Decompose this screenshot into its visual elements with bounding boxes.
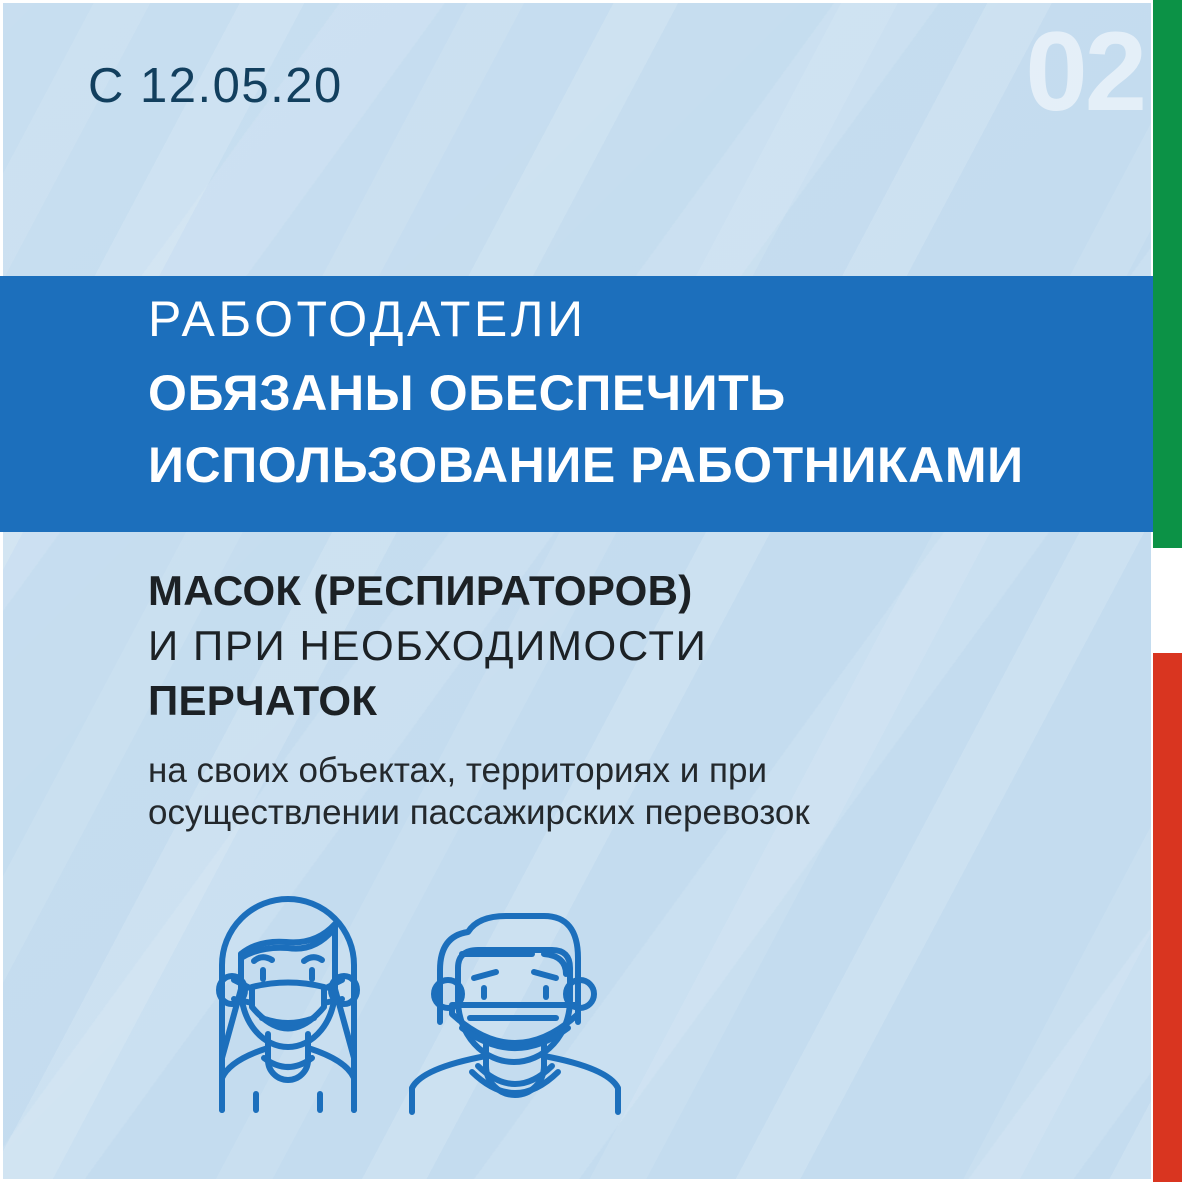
step-number-badge: 02 bbox=[1025, 16, 1144, 128]
headline-line-obligation: ОБЯЗАНЫ ОБЕСПЕЧИТЬ bbox=[148, 364, 786, 422]
poster-root: С 12.05.20 02 РАБОТОДАТЕЛИ ОБЯЗАНЫ ОБЕСП… bbox=[0, 0, 1182, 1182]
man-with-mask-icon bbox=[412, 916, 618, 1112]
flag-stripe-green bbox=[1153, 0, 1182, 548]
headline-line-usage: ИСПОЛЬЗОВАНИЕ РАБОТНИКАМИ bbox=[148, 436, 1024, 494]
body-line-gloves: ПЕРЧАТОК bbox=[148, 680, 810, 722]
flag-stripe bbox=[1153, 0, 1182, 1182]
body-copy-block: МАСОК (РЕСПИРАТОРОВ) И ПРИ НЕОБХОДИМОСТИ… bbox=[148, 570, 810, 834]
body-note-scope: на своих объектах, территориях и при осу… bbox=[148, 750, 810, 834]
headline-band: РАБОТОДАТЕЛИ ОБЯЗАНЫ ОБЕСПЕЧИТЬ ИСПОЛЬЗО… bbox=[0, 276, 1157, 532]
woman-with-mask-icon bbox=[219, 899, 357, 1110]
masked-people-illustration bbox=[200, 862, 630, 1142]
flag-stripe-white bbox=[1153, 548, 1182, 653]
body-line-if-needed: И ПРИ НЕОБХОДИМОСТИ bbox=[148, 625, 810, 667]
flag-stripe-red bbox=[1153, 653, 1182, 1182]
body-line-masks: МАСОК (РЕСПИРАТОРОВ) bbox=[148, 570, 810, 612]
effective-date-label: С 12.05.20 bbox=[88, 58, 343, 114]
headline-line-subject: РАБОТОДАТЕЛИ bbox=[148, 290, 587, 348]
